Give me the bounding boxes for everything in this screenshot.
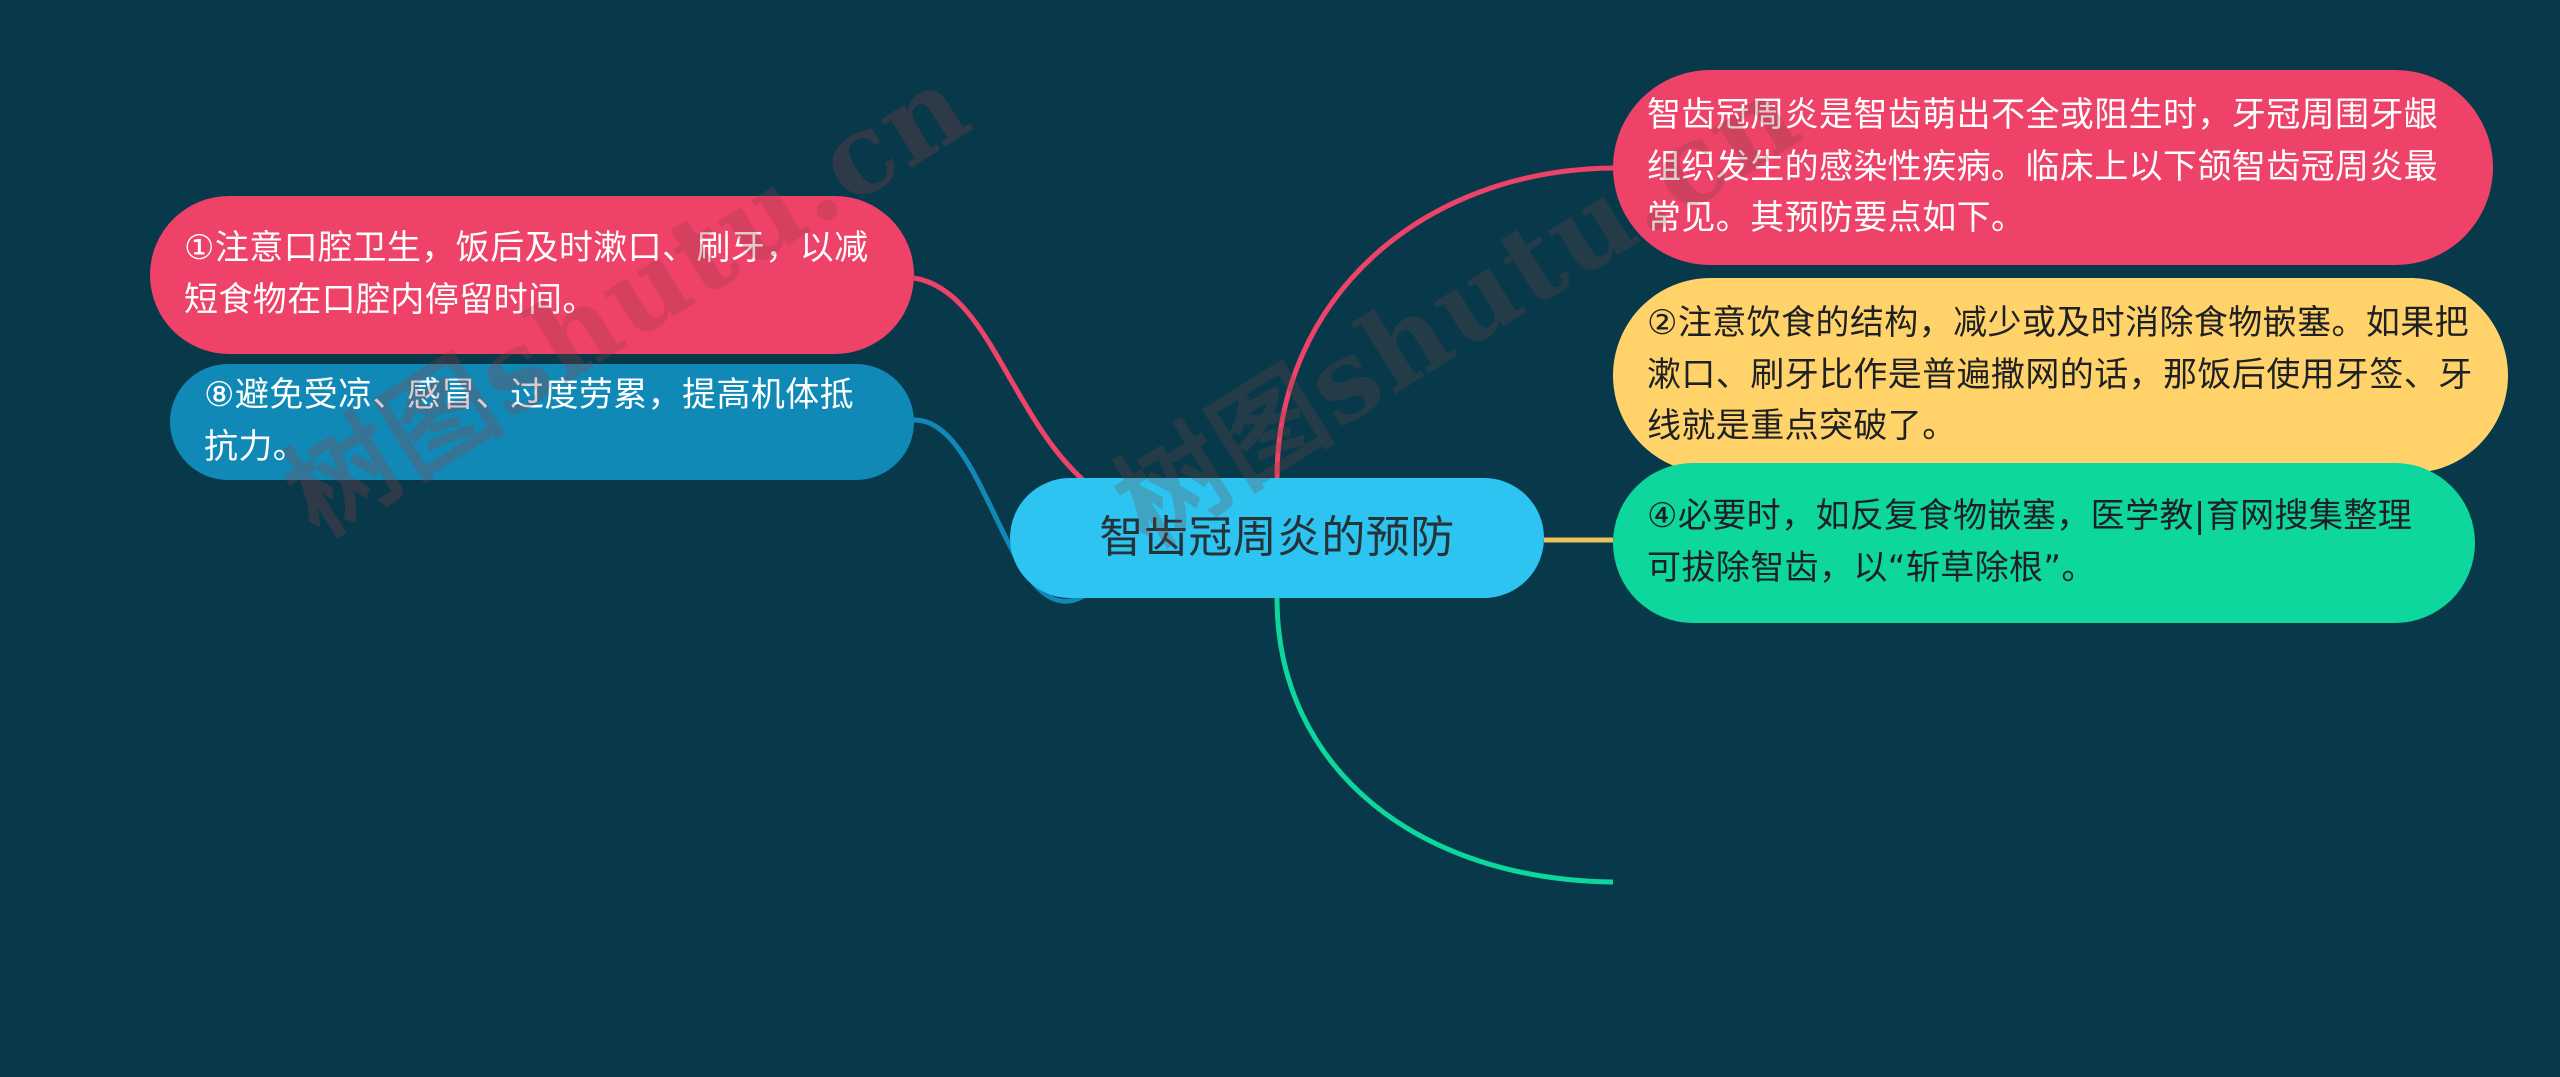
mindmap-node-extract[interactable]: ④必要时，如反复食物嵌塞，医学教|育网搜集整理可拔除智齿，以“斩草除根”。 [1613, 463, 2475, 623]
mindmap-node-hygiene[interactable]: ①注意口腔卫生，饭后及时漱口、刷牙，以减短食物在口腔内停留时间。 [150, 196, 914, 354]
connector-hygiene [914, 278, 1090, 486]
mindmap-root-node[interactable]: 智齿冠周炎的预防 [1010, 478, 1544, 598]
connector-extract [1277, 598, 1613, 882]
node-extract-label: ④必要时，如反复食物嵌塞，医学教|育网搜集整理可拔除智齿，以“斩草除根”。 [1647, 491, 2441, 594]
connector-intro [1277, 168, 1613, 478]
node-hygiene-label: ①注意口腔卫生，饭后及时漱口、刷牙，以减短食物在口腔内停留时间。 [184, 223, 880, 326]
root-node-label: 智齿冠周炎的预防 [1040, 505, 1514, 572]
mindmap-node-intro[interactable]: 智齿冠周炎是智齿萌出不全或阻生时，牙冠周围牙龈组织发生的感染性疾病。临床上以下颌… [1613, 70, 2493, 265]
mindmap-canvas: 树图shutu.cn 树图shutu.cn 智齿冠周炎的预防 智齿冠周炎是智齿萌… [0, 0, 2560, 1077]
node-immunity-label: ⑧避免受凉、感冒、过度劳累，提高机体抵抗力。 [204, 370, 880, 473]
mindmap-node-diet[interactable]: ②注意饮食的结构，减少或及时消除食物嵌塞。如果把漱口、刷牙比作是普遍撒网的话，那… [1613, 278, 2508, 473]
mindmap-node-immunity[interactable]: ⑧避免受凉、感冒、过度劳累，提高机体抵抗力。 [170, 364, 914, 480]
node-diet-label: ②注意饮食的结构，减少或及时消除食物嵌塞。如果把漱口、刷牙比作是普遍撒网的话，那… [1647, 298, 2474, 453]
node-intro-label: 智齿冠周炎是智齿萌出不全或阻生时，牙冠周围牙龈组织发生的感染性疾病。临床上以下颌… [1647, 90, 2459, 245]
